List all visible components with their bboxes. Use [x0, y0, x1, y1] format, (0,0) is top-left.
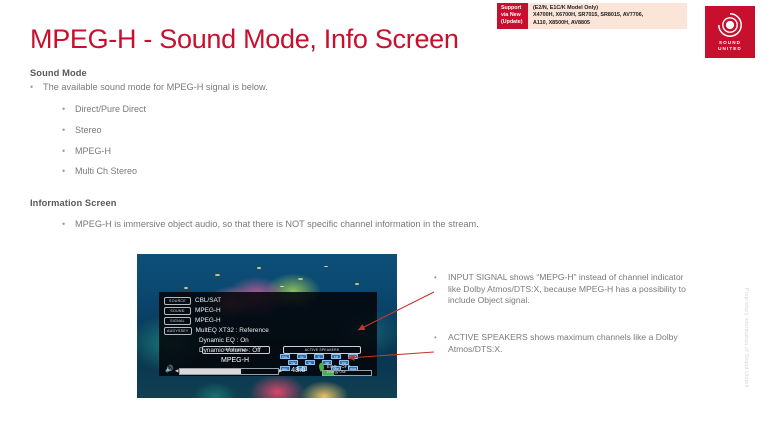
speaker-channel: FHR — [348, 354, 358, 359]
speaker-channel: C — [314, 354, 324, 359]
input-signal-title: INPUT SIGNAL — [202, 346, 270, 354]
speaker-channel: FHL — [280, 354, 290, 359]
bullet-glyph: • — [30, 81, 43, 94]
fish — [257, 267, 261, 269]
information-screen-heading: Information Screen — [30, 198, 117, 208]
support-banner-models: (E2/N, E1C/K Model Only) X4700H, X6700H,… — [528, 3, 687, 29]
osd-row-sound: SOUND MPEG-H — [164, 306, 269, 316]
input-signal-note-text: INPUT SIGNAL shows “MEPG-H” instead of c… — [448, 272, 696, 307]
sound-mode-item-multich: • Multi Ch Stereo — [62, 165, 137, 178]
models-line-2: X4700H, X6700H, SR7015, SR8015, AV7706, — [533, 12, 683, 19]
speaker-channel: FR — [331, 354, 341, 359]
active-speakers-note-text: ACTIVE SPEAKERS shows maximum channels l… — [448, 332, 696, 355]
osd-row-source: SOURCE CBL/SAT — [164, 296, 269, 306]
bullet-glyph: • — [62, 145, 75, 158]
sound-mode-item-stereo: • Stereo — [62, 124, 102, 137]
support-banner: Support via New (Update) (E2/N, E1C/K Mo… — [497, 3, 687, 29]
osd-row-audyssey: AUDYSSEY MultEQ XT32 : Reference — [164, 326, 269, 336]
osd-value-sound: MPEG-H — [195, 307, 221, 315]
proprietary-footer: Proprietary information of Sound United — [743, 288, 749, 388]
osd-value-signal: MPEG-H — [195, 317, 221, 325]
support-tag-line-1: Support — [501, 5, 525, 12]
sound-united-circle-icon — [717, 12, 743, 38]
speaker-channel: FL — [297, 354, 307, 359]
support-banner-tag: Support via New (Update) — [497, 3, 528, 29]
support-tag-line-3: (Update) — [501, 19, 525, 26]
slide-canvas: Support via New (Update) (E2/N, E1C/K Mo… — [0, 0, 770, 433]
speaker-channel: SL — [305, 360, 315, 365]
tv-screenshot: SOURCE CBL/SAT SOUND MPEG-H SIGNAL MPEG-… — [137, 254, 397, 398]
osd-row-signal: SIGNAL MPEG-H — [164, 316, 269, 326]
input-signal-value: MPEG-H — [202, 356, 268, 365]
volume-value: 48.0 — [291, 365, 305, 374]
active-speakers-note: • ACTIVE SPEAKERS shows maximum channels… — [434, 332, 696, 355]
models-line-3: A110, X8500H, AV8805 — [533, 20, 683, 27]
bullet-glyph: • — [434, 272, 448, 284]
osd-key-source: SOURCE — [164, 297, 191, 306]
active-speakers-title: ACTIVE SPEAKERS — [283, 346, 361, 354]
volume-increase-icon: ▶ — [279, 368, 282, 373]
osd-row-dynamic-eq: Dynamic EQ : On — [164, 336, 269, 346]
sound-mode-item-label: Multi Ch Stereo — [75, 165, 137, 178]
osd-info-panel: SOURCE CBL/SAT SOUND MPEG-H SIGNAL MPEG-… — [159, 292, 377, 376]
volume-bar-fill — [180, 369, 241, 374]
logo-word-line-2: UNITED — [718, 46, 742, 52]
sound-united-logo: SOUND UNITED — [705, 6, 755, 58]
osd-key-audyssey: AUDYSSEY — [164, 327, 192, 336]
sound-mode-item-label: MPEG-H — [75, 145, 111, 158]
osd-key-sound: SOUND — [164, 307, 191, 316]
osd-value-audyssey: MultEQ XT32 : Reference — [196, 327, 269, 335]
fish — [355, 283, 359, 285]
sound-mode-item-mpegh: • MPEG-H — [62, 145, 111, 158]
sound-mode-item-label: Direct/Pure Direct — [75, 103, 146, 116]
bullet-glyph: • — [62, 165, 75, 178]
logo-wordmark: SOUND UNITED — [718, 40, 742, 52]
volume-decrease-icon: ◀ — [175, 368, 178, 373]
bullet-glyph: • — [434, 332, 448, 344]
osd-key-signal: SIGNAL — [164, 317, 191, 326]
bullet-glyph: • — [62, 103, 75, 116]
bullet-glyph: • — [62, 218, 75, 231]
input-signal-note: • INPUT SIGNAL shows “MEPG-H” instead of… — [434, 272, 696, 307]
sound-mode-item-label: Stereo — [75, 124, 102, 137]
sound-mode-heading: Sound Mode — [30, 68, 87, 78]
volume-speaker-icon: 🔊 — [165, 366, 174, 374]
fish — [324, 266, 328, 268]
models-line-1: (E2/N, E1C/K Model Only) — [533, 5, 683, 12]
fish — [184, 287, 188, 289]
volume-bar — [179, 368, 279, 375]
speaker-channel: SW — [288, 360, 298, 365]
sound-mode-bullet: • The available sound mode for MPEG-H si… — [30, 81, 268, 94]
sound-mode-item-direct: • Direct/Pure Direct — [62, 103, 146, 116]
page-title: MPEG-H - Sound Mode, Info Screen — [30, 22, 459, 56]
energy-use-label: Energy Use — [327, 370, 346, 375]
osd-value-dynamic-eq: Dynamic EQ : On — [199, 337, 249, 345]
sound-mode-bullet-text: The available sound mode for MPEG-H sign… — [43, 81, 268, 94]
information-screen-bullet-text: MPEG-H is immersive object audio, so tha… — [75, 218, 479, 231]
osd-value-source: CBL/SAT — [195, 297, 221, 305]
bullet-glyph: • — [62, 124, 75, 137]
support-tag-line-2: via New — [501, 12, 525, 19]
eco-status-label: ECO : OFF — [327, 364, 351, 369]
information-screen-bullet: • MPEG-H is immersive object audio, so t… — [62, 218, 479, 231]
